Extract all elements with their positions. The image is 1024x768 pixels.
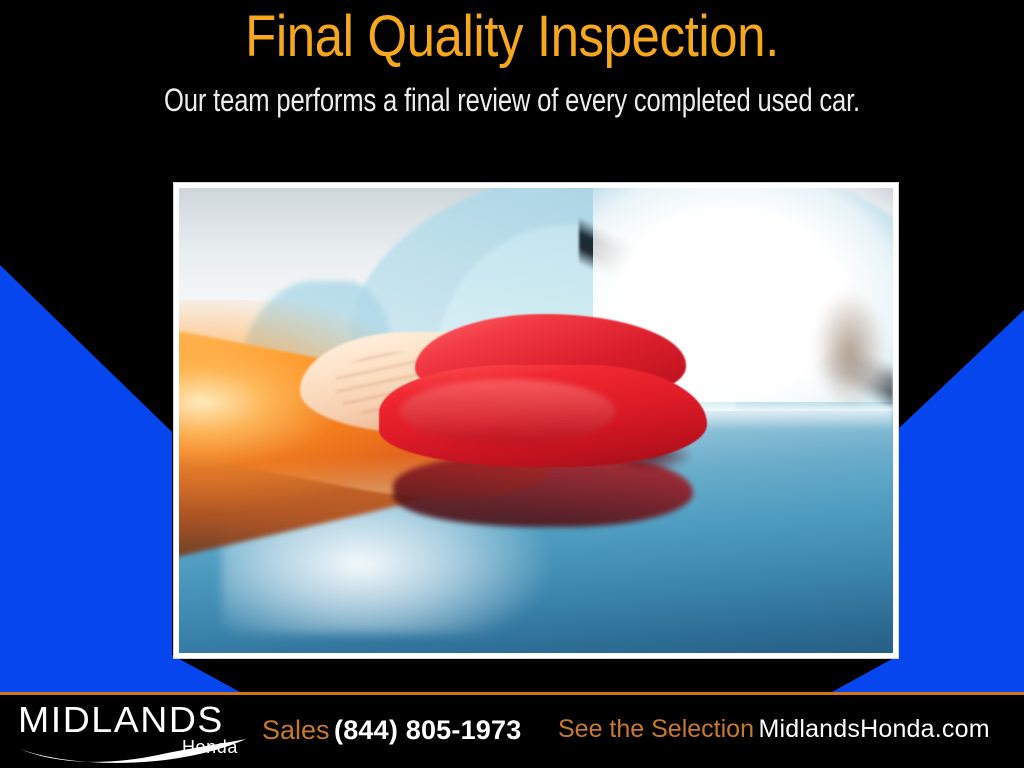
background-foliage bbox=[814, 290, 885, 411]
headline-block: Final Quality Inspection. Our team perfo… bbox=[0, 0, 1024, 175]
logo-brand: Honda bbox=[182, 737, 238, 758]
sales-contact[interactable]: Sales (844) 805-1973 bbox=[262, 715, 521, 746]
selection-label: See the Selection bbox=[558, 715, 754, 743]
photo-frame bbox=[174, 183, 898, 658]
page-title: Final Quality Inspection. bbox=[61, 8, 962, 66]
footer-bar: MIDLANDS Honda Sales (844) 805-1973 See … bbox=[0, 695, 1024, 768]
phone-number[interactable]: (844) 805-1973 bbox=[334, 715, 521, 745]
dealer-logo[interactable]: MIDLANDS Honda bbox=[18, 699, 250, 763]
selection-cta[interactable]: See the Selection MidlandsHonda.com bbox=[558, 715, 990, 744]
red-cloth-fold bbox=[400, 379, 614, 444]
page-subtitle: Our team performs a final review of ever… bbox=[102, 84, 921, 118]
sales-label: Sales bbox=[262, 715, 330, 745]
website-link[interactable]: MidlandsHonda.com bbox=[758, 715, 989, 743]
hero-photo bbox=[179, 188, 893, 653]
advertisement-banner: Final Quality Inspection. Our team perfo… bbox=[0, 0, 1024, 768]
